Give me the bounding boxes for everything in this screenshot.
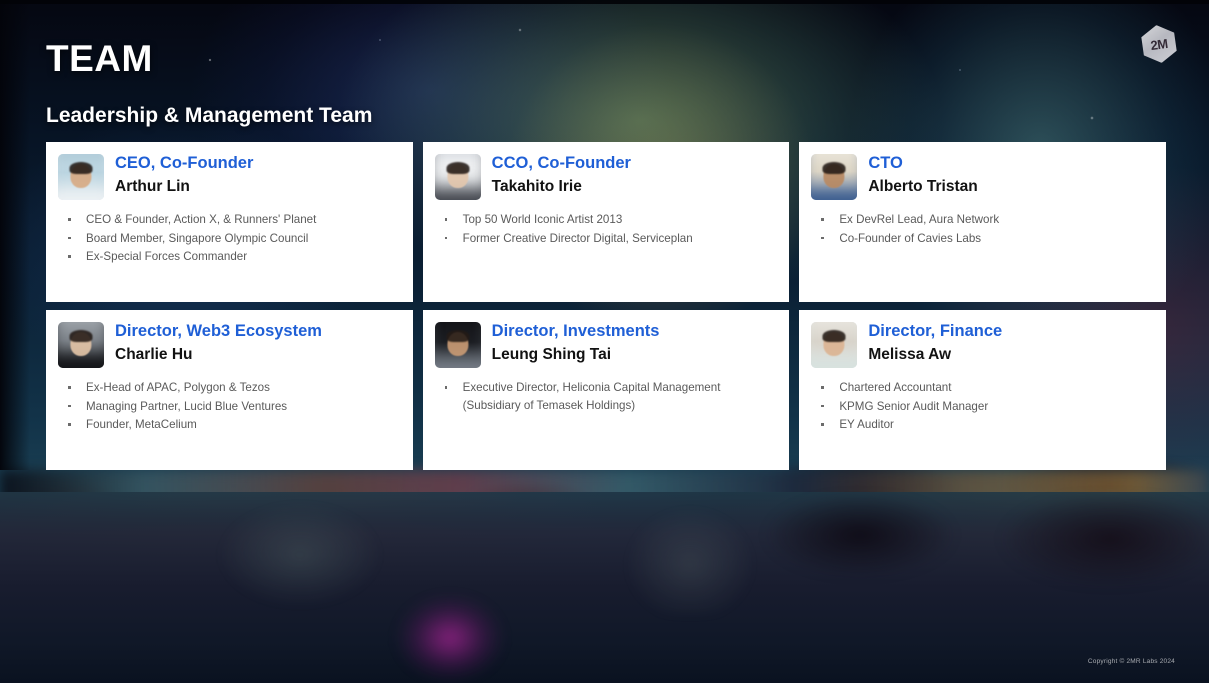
team-member-card: CCO, Co-FounderTakahito IrieTop 50 World… xyxy=(423,142,790,302)
team-member-card: Director, InvestmentsLeung Shing TaiExec… xyxy=(423,310,790,470)
member-identity: Director, InvestmentsLeung Shing Tai xyxy=(492,322,660,364)
background-left-vignette xyxy=(0,0,30,470)
member-header: CTOAlberto Tristan xyxy=(811,154,1152,200)
member-highlights: CEO & Founder, Action X, & Runners' Plan… xyxy=(58,211,399,266)
member-role: CCO, Co-Founder xyxy=(492,154,631,173)
highlight-item: Executive Director, Heliconia Capital Ma… xyxy=(435,379,776,414)
member-name: Arthur Lin xyxy=(115,178,253,196)
avatar-arthur-lin xyxy=(58,154,104,200)
highlight-item: Top 50 World Iconic Artist 2013 xyxy=(435,211,776,229)
member-header: Director, Web3 EcosystemCharlie Hu xyxy=(58,322,399,368)
member-identity: CTOAlberto Tristan xyxy=(868,154,977,196)
brand-logo: 2M xyxy=(1140,24,1178,64)
highlight-item: Founder, MetaCelium xyxy=(58,416,399,434)
highlight-item: Ex DevRel Lead, Aura Network xyxy=(811,211,1152,229)
member-role: Director, Finance xyxy=(868,322,1002,341)
highlight-item: Former Creative Director Digital, Servic… xyxy=(435,230,776,248)
member-identity: CCO, Co-FounderTakahito Irie xyxy=(492,154,631,196)
highlight-item: Board Member, Singapore Olympic Council xyxy=(58,230,399,248)
presentation-slide: TEAM Leadership & Management Team 2M CEO… xyxy=(0,0,1209,683)
avatar-alberto-tristan xyxy=(811,154,857,200)
member-header: Director, FinanceMelissa Aw xyxy=(811,322,1152,368)
member-name: Takahito Irie xyxy=(492,178,631,196)
highlight-item: Ex-Head of APAC, Polygon & Tezos xyxy=(58,379,399,397)
member-highlights: Top 50 World Iconic Artist 2013Former Cr… xyxy=(435,211,776,247)
member-highlights: Ex-Head of APAC, Polygon & TezosManaging… xyxy=(58,379,399,434)
highlight-item: Ex-Special Forces Commander xyxy=(58,248,399,266)
page-title: TEAM xyxy=(46,38,153,80)
member-role: CEO, Co-Founder xyxy=(115,154,253,173)
avatar-hair-shape xyxy=(446,330,469,342)
member-identity: Director, Web3 EcosystemCharlie Hu xyxy=(115,322,322,364)
highlight-item: Chartered Accountant xyxy=(811,379,1152,397)
highlight-item: CEO & Founder, Action X, & Runners' Plan… xyxy=(58,211,399,229)
avatar-melissa-aw xyxy=(811,322,857,368)
avatar-hair-shape xyxy=(70,330,93,342)
member-highlights: Ex DevRel Lead, Aura NetworkCo-Founder o… xyxy=(811,211,1152,247)
highlight-item: Co-Founder of Cavies Labs xyxy=(811,230,1152,248)
member-role: Director, Investments xyxy=(492,322,660,341)
avatar-charlie-hu xyxy=(58,322,104,368)
team-member-card: CTOAlberto TristanEx DevRel Lead, Aura N… xyxy=(799,142,1166,302)
member-name: Leung Shing Tai xyxy=(492,346,660,364)
background-reflection-shapes xyxy=(0,495,1209,615)
copyright-text: Copyright © 2MR Labs 2024 xyxy=(1088,658,1175,665)
member-header: CEO, Co-FounderArthur Lin xyxy=(58,154,399,200)
logo-hexagon-icon: 2M xyxy=(1139,23,1180,66)
highlight-item: Managing Partner, Lucid Blue Ventures xyxy=(58,398,399,416)
highlight-item: KPMG Senior Audit Manager xyxy=(811,398,1152,416)
team-member-card: Director, Web3 EcosystemCharlie HuEx-Hea… xyxy=(46,310,413,470)
team-member-card: CEO, Co-FounderArthur LinCEO & Founder, … xyxy=(46,142,413,302)
member-header: Director, InvestmentsLeung Shing Tai xyxy=(435,322,776,368)
avatar-hair-shape xyxy=(446,162,469,174)
background-top-border xyxy=(0,0,1209,4)
member-role: Director, Web3 Ecosystem xyxy=(115,322,322,341)
member-highlights: Executive Director, Heliconia Capital Ma… xyxy=(435,379,776,414)
avatar-hair-shape xyxy=(823,162,846,174)
member-name: Alberto Tristan xyxy=(868,178,977,196)
member-highlights: Chartered AccountantKPMG Senior Audit Ma… xyxy=(811,379,1152,434)
member-header: CCO, Co-FounderTakahito Irie xyxy=(435,154,776,200)
team-card-grid: CEO, Co-FounderArthur LinCEO & Founder, … xyxy=(46,142,1166,470)
page-subtitle: Leadership & Management Team xyxy=(46,104,372,128)
member-name: Melissa Aw xyxy=(868,346,1002,364)
highlight-item: EY Auditor xyxy=(811,416,1152,434)
member-identity: Director, FinanceMelissa Aw xyxy=(868,322,1002,364)
member-role: CTO xyxy=(868,154,977,173)
member-name: Charlie Hu xyxy=(115,346,322,364)
member-identity: CEO, Co-FounderArthur Lin xyxy=(115,154,253,196)
avatar-hair-shape xyxy=(823,330,846,342)
avatar-leung-shing-tai xyxy=(435,322,481,368)
team-member-card: Director, FinanceMelissa AwChartered Acc… xyxy=(799,310,1166,470)
avatar-hair-shape xyxy=(70,162,93,174)
background-magenta-glow xyxy=(370,590,530,683)
avatar-takahito-irie xyxy=(435,154,481,200)
